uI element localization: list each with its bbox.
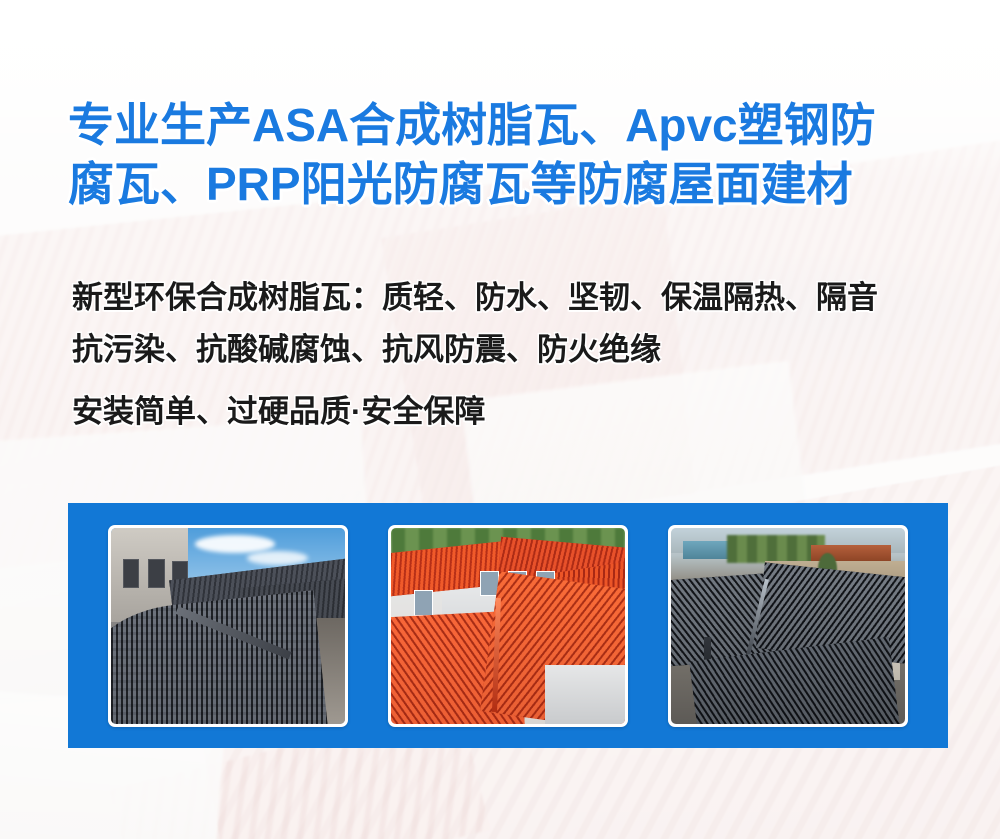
headline-line-2: 腐瓦、PRP阳光防腐瓦等防腐屋面建材 [68,155,948,214]
photo2-window-4 [414,590,433,615]
photo1-main-tiled-roof [111,590,329,723]
subheadline-line-2: 抗污染、抗酸碱腐蚀、抗风防震、防火绝缘 [72,324,962,376]
photo1-cloud-b [247,551,308,565]
gallery-photo-2[interactable] [388,525,628,727]
grey-resin-tile-roof-courtyard-image [111,528,345,724]
subheadline-line-1: 新型环保合成树脂瓦：质轻、防水、坚韧、保温隔热、隔音 [72,272,962,324]
headline: 专业生产ASA合成树脂瓦、Apvc塑钢防 腐瓦、PRP阳光防腐瓦等防腐屋面建材 [68,96,948,214]
red-resin-tile-roof-villa-image [391,528,625,724]
photo2-lower-building [545,665,625,724]
product-promo-banner: 专业生产ASA合成树脂瓦、Apvc塑钢防 腐瓦、PRP阳光防腐瓦等防腐屋面建材 … [0,0,1000,839]
gallery-photo-3[interactable] [668,525,908,727]
headline-line-1: 专业生产ASA合成树脂瓦、Apvc塑钢防 [68,96,948,155]
photo1-cloud-a [195,535,275,553]
subheadline-line-3: 安装简单、过硬品质·安全保障 [72,386,962,438]
banner-content: 专业生产ASA合成树脂瓦、Apvc塑钢防 腐瓦、PRP阳光防腐瓦等防腐屋面建材 … [0,0,1000,839]
photo-gallery-panel [68,503,948,748]
gallery-photo-1[interactable] [108,525,348,727]
photo1-window-2 [148,559,164,588]
black-resin-tile-roof-village-image [671,528,905,724]
subheadline: 新型环保合成树脂瓦：质轻、防水、坚韧、保温隔热、隔音 抗污染、抗酸碱腐蚀、抗风防… [72,272,962,438]
photo1-window-1 [123,559,139,588]
